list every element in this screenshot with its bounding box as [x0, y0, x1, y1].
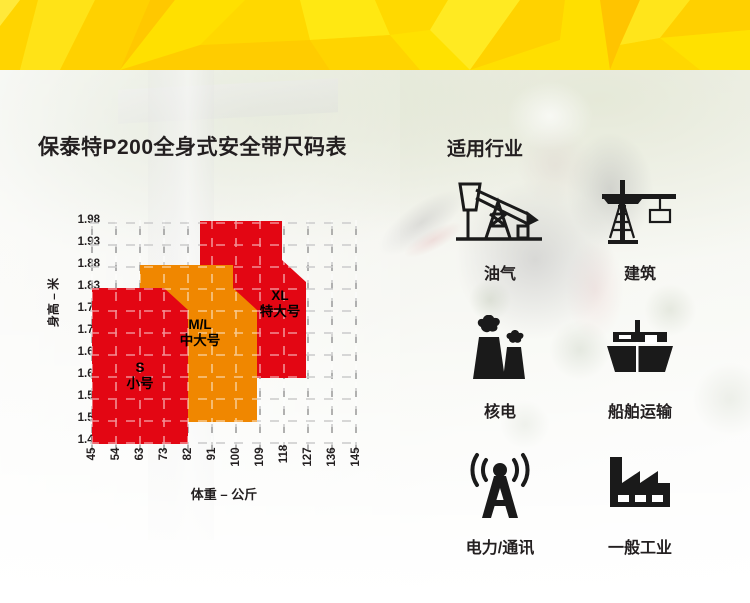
industry-label-shipping: 船舶运输 — [570, 398, 710, 422]
industry-item-shipping: 船舶运输 — [570, 308, 710, 422]
industry-item-oil-gas: 油气 — [430, 170, 570, 284]
size-chart: 身高 – 米 1.98 1.93 1.88 1.83 1.78 1.73 1.6… — [32, 212, 372, 502]
x-tick-4: 82 — [182, 439, 194, 469]
top-yellow-banner — [0, 0, 750, 70]
region-label-xl: XL 特大号 — [242, 288, 318, 320]
industry-label-power-telecom: 电力/通讯 — [430, 534, 570, 558]
x-axis-label: 体重 – 公斤 — [90, 484, 358, 503]
ship-icon — [570, 308, 710, 394]
industry-label-general: 一般工业 — [570, 534, 710, 558]
x-tick-6: 100 — [230, 442, 242, 472]
x-tick-1: 54 — [110, 439, 122, 469]
cooling-tower-icon — [430, 308, 570, 394]
pumpjack-icon — [430, 170, 570, 256]
x-tick-2: 63 — [134, 439, 146, 469]
region-label-ml-cn: 中大号 — [162, 333, 238, 349]
x-tick-7: 109 — [254, 442, 266, 472]
size-chart-infographic: 保泰特P200全身式安全带尺码表 身高 – 米 1.98 1.93 1.88 1… — [0, 0, 750, 603]
industry-item-nuclear: 核电 — [430, 308, 570, 422]
crane-icon — [570, 170, 710, 256]
region-label-xl-code: XL — [242, 288, 318, 304]
x-tick-5: 91 — [206, 439, 218, 469]
industry-label-oil-gas: 油气 — [430, 260, 570, 284]
x-tick-3: 73 — [158, 439, 170, 469]
region-label-s: S 小号 — [104, 360, 176, 392]
region-label-s-code: S — [104, 360, 176, 376]
x-tick-0: 45 — [86, 439, 98, 469]
region-label-xl-cn: 特大号 — [242, 304, 318, 320]
region-label-ml: M/L 中大号 — [162, 317, 238, 349]
x-tick-9: 127 — [302, 442, 314, 472]
lowpoly-pattern-icon — [0, 0, 750, 70]
x-tick-11: 145 — [350, 442, 362, 472]
industry-label-nuclear: 核电 — [430, 398, 570, 422]
x-tick-8: 118 — [278, 439, 290, 469]
industry-item-power-telecom: 电力/通讯 — [430, 444, 570, 558]
chart-title: 保泰特P200全身式安全带尺码表 — [38, 131, 347, 161]
factory-icon — [570, 444, 710, 530]
plot-area: S 小号 M/L 中大号 XL 特大号 — [90, 220, 358, 448]
industries-grid: 油气 — [430, 170, 730, 570]
industry-label-construction: 建筑 — [570, 260, 710, 284]
industry-item-construction: 建筑 — [570, 170, 710, 284]
region-label-s-cn: 小号 — [104, 376, 176, 392]
antenna-tower-icon — [430, 444, 570, 530]
industries-heading: 适用行业 — [447, 134, 523, 161]
industry-item-general: 一般工业 — [570, 444, 710, 558]
x-tick-10: 136 — [326, 442, 338, 472]
region-label-ml-code: M/L — [162, 317, 238, 333]
